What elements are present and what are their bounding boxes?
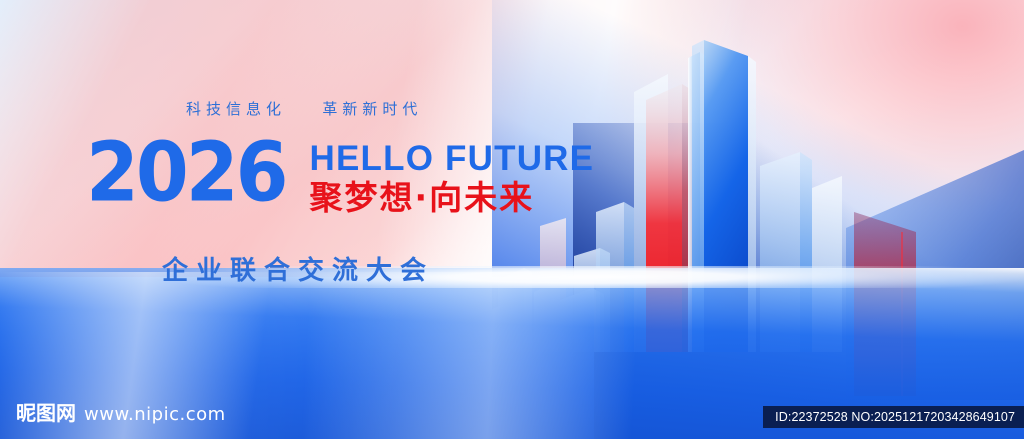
watermark: 昵图网 www.nipic.com	[16, 397, 226, 426]
tagline: 科技信息化 革新新时代	[186, 98, 422, 119]
event-subtitle: 企业联合交流大会	[162, 250, 434, 287]
headline-content: 科技信息化 革新新时代 2026 HELLO FUTURE 聚梦想·向未来 企业…	[0, 0, 620, 439]
year-logo: 2026	[86, 139, 286, 206]
image-id-label: ID:22372528 NO:20251217203428649107	[763, 406, 1024, 428]
tagline-left: 科技信息化	[186, 101, 286, 118]
slogan-chinese: 聚梦想·向未来	[310, 180, 595, 217]
tagline-right: 革新新时代	[322, 101, 422, 118]
watermark-logo: 昵图网	[16, 397, 76, 426]
headline-texts: HELLO FUTURE 聚梦想·向未来	[310, 141, 595, 217]
headline-english: HELLO FUTURE	[310, 141, 595, 178]
watermark-url: www.nipic.com	[84, 404, 226, 425]
headline-row: 2026 HELLO FUTURE 聚梦想·向未来	[86, 139, 594, 217]
poster-canvas: 科技信息化 革新新时代 2026 HELLO FUTURE 聚梦想·向未来 企业…	[0, 0, 1024, 439]
